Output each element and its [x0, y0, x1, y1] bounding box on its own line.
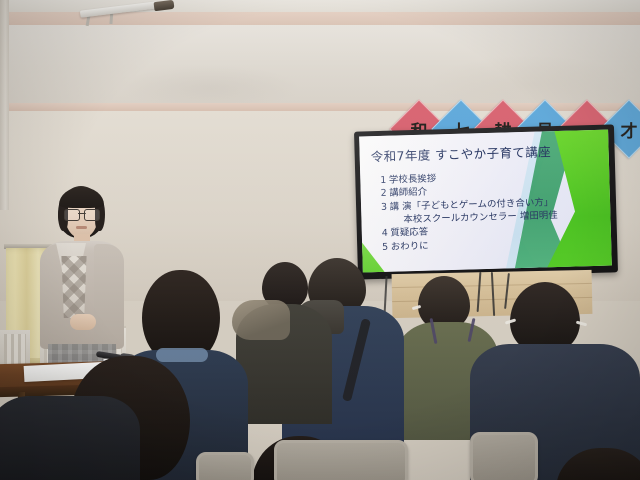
photo-scene: 和 七 耕 見 一 才 令和7年度 [0, 0, 640, 480]
presenter-argyle-pattern [59, 256, 89, 318]
folding-chair-back [196, 452, 254, 480]
attendee-torso [0, 396, 140, 480]
fixture-bar [80, 1, 158, 17]
presenter-mouth [76, 226, 87, 229]
display-screen: 令和7年度 すこやか子育て講座 1学校長挨拶 2講師紹介 3講 演「子どもとゲー… [359, 130, 612, 273]
slide-agenda-list: 1学校長挨拶 2講師紹介 3講 演「子どもとゲームの付き合い方」 本校スクールカ… [380, 168, 603, 254]
folding-chair-back [274, 440, 408, 480]
flat-panel-display: 令和7年度 すこやか子育て講座 1学校長挨拶 2講師紹介 3講 演「子どもとゲー… [354, 124, 618, 279]
agenda-text: 質疑応答 [390, 227, 428, 239]
radiator-grille [4, 334, 26, 366]
glasses-lens-right [84, 209, 100, 221]
fur-collar [232, 300, 290, 340]
agenda-text: 学校長挨拶 [389, 173, 437, 185]
display-bezel: 令和7年度 すこやか子育て講座 1学校長挨拶 2講師紹介 3講 演「子どもとゲー… [354, 124, 618, 279]
agenda-number: 1 [380, 175, 386, 186]
door-jamb-left [0, 0, 9, 210]
glasses-lens-left [64, 209, 80, 221]
agenda-number: 4 [382, 228, 388, 239]
glasses-icon [64, 209, 100, 219]
ceiling-light-fixture [72, 0, 172, 22]
folding-chair-back [470, 432, 538, 480]
fixture-head [154, 0, 175, 11]
agenda-number: 3 [381, 201, 387, 212]
presenter-hair-front [59, 187, 104, 208]
wall-upper [0, 25, 640, 105]
agenda-number: 5 [382, 241, 388, 252]
slide-content: 令和7年度 すこやか子育て講座 1学校長挨拶 2講師紹介 3講 演「子どもとゲー… [359, 130, 612, 273]
agenda-text: 講師紹介 [389, 187, 427, 199]
agenda-text: おわりに [391, 240, 429, 252]
slide-title: 令和7年度 すこやか子育て講座 [370, 140, 600, 165]
presenter-clasped-hands [70, 314, 96, 330]
presenter-cardigan-right-panel [94, 244, 124, 349]
agenda-number: 2 [381, 188, 387, 199]
shirt-collar [156, 348, 208, 362]
